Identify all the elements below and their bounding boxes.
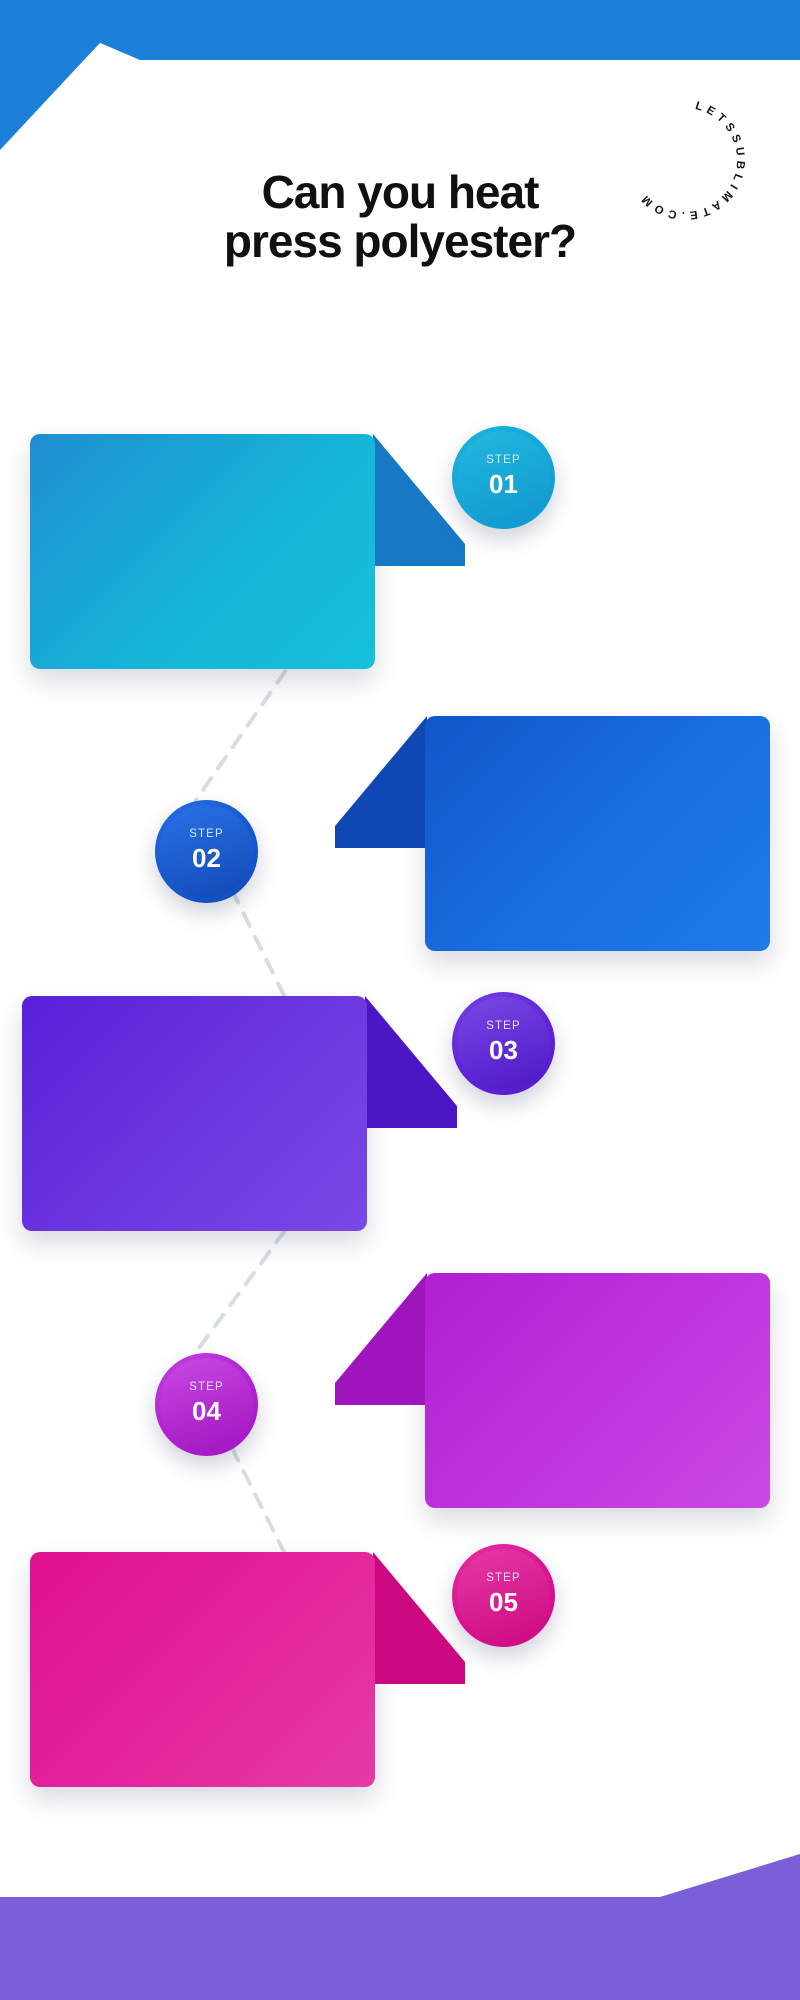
step-card-2[interactable]: Transfer paper Choose the transfer paper… [425,716,770,951]
step-badge-number-3: 03 [486,1036,520,1066]
step-badge-1[interactable]: STEP 01 [452,426,555,529]
step-card-5[interactable]: Design transfer Now press the substrate … [30,1552,375,1787]
step-badge-label-5: STEP [486,1573,520,1585]
step-badge-number-5: 05 [486,1588,520,1618]
step-card-3[interactable]: Set heat press Set the heat press to the… [22,996,367,1231]
footer-website-url[interactable]: WWW.LETSSUBLIMATE.COM [470,102,682,116]
step-card-1[interactable]: Understand substrate [30,434,375,669]
step-row-4: Preheating Make sure to preheat the subs… [0,1273,800,1513]
step-card-body-4 [425,1273,770,1508]
step-card-body-2 [425,716,770,951]
step-badge-3[interactable]: STEP 03 [452,992,555,1095]
footer-purple-band [0,1854,800,2000]
step-card-wing-2 [335,716,427,848]
step-card-wing-5 [373,1552,465,1684]
step-card-body-5 [30,1552,375,1787]
step-card-body-1 [30,434,375,669]
step-card-4[interactable]: Preheating Make sure to preheat the subs… [425,1273,770,1508]
brand-logo-text: LETSSUBLIMATE.COM [637,100,746,221]
step-card-wing-1 [373,434,465,566]
step-badge-2[interactable]: STEP 02 [155,800,258,903]
step-badge-4[interactable]: STEP 04 [155,1353,258,1456]
step-badge-label-2: STEP [189,829,223,841]
footer-learn-more-label: Learn more at: [106,101,203,116]
step-badge-number-2: 02 [189,844,223,874]
step-badge-number-1: 01 [486,470,520,500]
step-badge-label-4: STEP [189,1382,223,1394]
step-badge-label-1: STEP [486,455,520,467]
step-badge-label-3: STEP [486,1021,520,1033]
step-card-body-3 [22,996,367,1231]
step-card-wing-3 [365,996,457,1128]
step-badge-5[interactable]: STEP 05 [452,1544,555,1647]
step-badge-number-4: 04 [189,1397,223,1427]
step-row-5: Design transfer Now press the substrate … [0,1552,800,1792]
step-row-3: Set heat press Set the heat press to the… [0,996,800,1236]
step-card-wing-4 [335,1273,427,1405]
step-row-2: Transfer paper Choose the transfer paper… [0,716,800,956]
step-row-1: Understand substrate [0,434,800,674]
